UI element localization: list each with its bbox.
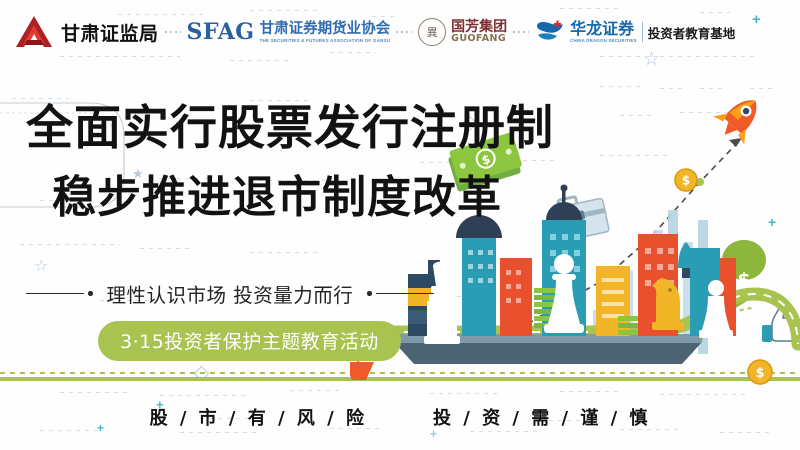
campaign-badge: 3·15投资者保护主题教育活动: [98, 321, 401, 361]
svg-text:$: $: [682, 174, 690, 188]
subtitle-dot-left: [88, 291, 93, 296]
logo-sfag: SFAG 甘肃证券期货业协会 THE SECURITIES & FUTURES …: [187, 19, 391, 45]
logo-china-dragon-suffix: 投资者教育基地: [648, 23, 736, 42]
logo-guofang-label-cn: 国芳集团: [451, 20, 507, 35]
deco-dash: [180, 432, 260, 433]
logo-gansu-csrc-label: 甘肃证监局: [61, 19, 159, 46]
subtitle-rule-right: [376, 293, 434, 295]
china-dragon-wave-emblem: [535, 20, 565, 44]
logo-sfag-label-cn: 甘肃证券期货业协会: [260, 21, 391, 36]
deco-dash: [290, 390, 340, 391]
svg-text:$: $: [737, 269, 750, 291]
headline-block: 全面实行股票发行注册制 稳步推进退市制度改革: [26, 105, 554, 220]
logo-separator-dots: [396, 31, 412, 33]
footer-slogans: 股 / 市 / 有 / 风 / 险 投 / 资 / 需 / 谨 / 慎: [0, 404, 800, 430]
logo-china-dragon-label-cn: 华龙证券: [570, 21, 637, 38]
guofang-circle-emblem: 異: [418, 18, 446, 46]
deco-dash: [20, 244, 120, 245]
subtitle-text: 理性认识市场 投资量力而行: [107, 279, 354, 308]
gansu-csrc-triangle-emblem: [14, 14, 54, 50]
headline-line-2: 稳步推进退市制度改革: [52, 176, 554, 220]
deco-dash: [40, 430, 100, 431]
logo-guofang-label-en: GUOFANG: [451, 34, 507, 44]
headline-line-1: 全面实行股票发行注册制: [26, 105, 554, 152]
chess-knight-icon: [652, 278, 684, 330]
slogan-risk: 股 / 市 / 有 / 风 / 险: [150, 404, 367, 430]
deco-dash: [660, 394, 750, 395]
gold-coin-icon: $: [748, 360, 772, 384]
logo-sfag-abbr: SFAG: [187, 19, 255, 45]
svg-text:$: $: [755, 366, 764, 381]
slogan-caution: 投 / 资 / 需 / 谨 / 慎: [433, 404, 650, 430]
logo-guofang: 異 国芳集团 GUOFANG: [418, 18, 507, 46]
logo-sfag-label-en: THE SECURITIES & FUTURES ASSOCIATION OF …: [260, 38, 391, 43]
deco-dash: [560, 391, 620, 392]
star-icon: ☆: [34, 258, 48, 274]
logo-divider: [642, 22, 643, 42]
logo-china-dragon-label-en: CHINA DRAGON SECURITIES: [570, 38, 637, 43]
deco-dash: [160, 395, 250, 396]
gold-coin-icon: $: [675, 169, 697, 191]
deco-dash: [250, 252, 320, 253]
deco-dash: [720, 432, 770, 433]
logo-gansu-csrc: 甘肃证监局: [14, 14, 159, 50]
subtitle-dot-right: [367, 291, 372, 296]
deco-dash: [430, 393, 500, 394]
subtitle-block: 理性认识市场 投资量力而行: [26, 279, 486, 308]
banner-root: ☆ ★ ★ ☆ ☆ + + + + + 甘肃证监局 SFAG: [0, 0, 800, 450]
header-logo-bar: 甘肃证监局 SFAG 甘肃证券期货业协会 THE SECURITIES & FU…: [0, 0, 800, 64]
logo-separator-dots: [165, 31, 181, 33]
logo-china-dragon: 华龙证券 CHINA DRAGON SECURITIES 投资者教育基地: [535, 20, 735, 44]
subtitle-rule-left: [26, 293, 84, 295]
deco-dash: [470, 431, 540, 432]
deco-dash: [60, 392, 130, 393]
deco-dash: [140, 248, 190, 249]
logo-separator-dots: [513, 31, 529, 33]
